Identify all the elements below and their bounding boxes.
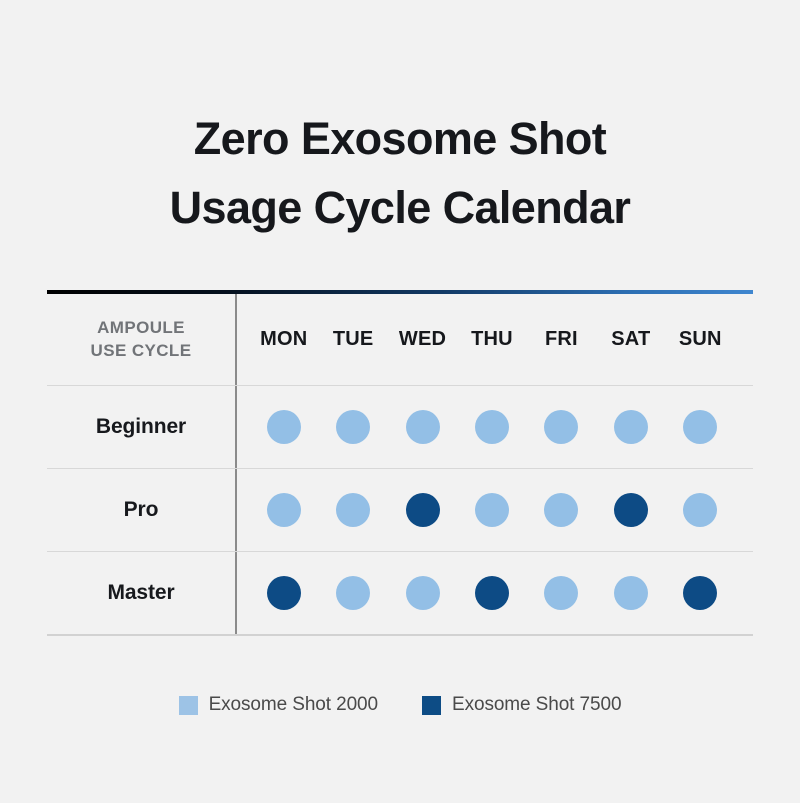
dose-dot-icon xyxy=(475,576,509,610)
page-title-line-2: Usage Cycle Calendar xyxy=(0,173,800,242)
dot-cell-beginner-fri[interactable] xyxy=(527,410,596,444)
dose-dot-icon xyxy=(406,493,440,527)
dot-cell-pro-sun[interactable] xyxy=(666,493,735,527)
day-header-fri: FRI xyxy=(527,328,596,351)
day-header-mon: MON xyxy=(249,328,318,351)
tier-label-cell-beginner: Beginner xyxy=(47,386,237,468)
corner-header-line-2: USE CYCLE xyxy=(91,341,192,360)
dose-dot-icon xyxy=(336,410,370,444)
table-row: Beginner xyxy=(47,386,753,468)
dose-dot-icon xyxy=(614,576,648,610)
dose-dot-icon xyxy=(683,493,717,527)
dose-dot-icon xyxy=(683,410,717,444)
dose-dot-icon xyxy=(406,410,440,444)
dot-cell-master-thu[interactable] xyxy=(457,576,526,610)
dose-dot-icon xyxy=(614,493,648,527)
tier-label-pro: Pro xyxy=(124,498,159,522)
dot-cells-pro xyxy=(237,469,753,551)
dose-dot-icon xyxy=(267,410,301,444)
dot-cell-pro-tue[interactable] xyxy=(318,493,387,527)
dose-dot-icon xyxy=(267,493,301,527)
dot-cell-master-sun[interactable] xyxy=(666,576,735,610)
dot-cell-beginner-wed[interactable] xyxy=(388,410,457,444)
tier-label-cell-pro: Pro xyxy=(47,469,237,551)
dose-dot-icon xyxy=(544,493,578,527)
legend-label-exosome-shot-2000: Exosome Shot 2000 xyxy=(209,694,378,716)
dose-dot-icon xyxy=(683,576,717,610)
dot-cell-pro-thu[interactable] xyxy=(457,493,526,527)
dot-cell-beginner-thu[interactable] xyxy=(457,410,526,444)
dot-cell-master-tue[interactable] xyxy=(318,576,387,610)
legend-item-exosome-shot-7500: Exosome Shot 7500 xyxy=(422,694,621,716)
dot-cells-master xyxy=(237,552,753,634)
legend-swatch-dark-icon xyxy=(422,696,441,715)
corner-header-cell: AMPOULE USE CYCLE xyxy=(47,294,237,385)
page-title: Zero Exosome Shot Usage Cycle Calendar xyxy=(0,104,800,243)
legend-swatch-light-icon xyxy=(179,696,198,715)
dose-dot-icon xyxy=(267,576,301,610)
day-header-sat: SAT xyxy=(596,328,665,351)
day-header-thu: THU xyxy=(457,328,526,351)
dot-cell-master-fri[interactable] xyxy=(527,576,596,610)
usage-cycle-calendar-page: Zero Exosome Shot Usage Cycle Calendar A… xyxy=(0,0,800,803)
dot-cells-beginner xyxy=(237,386,753,468)
dot-cell-master-mon[interactable] xyxy=(249,576,318,610)
dose-dot-icon xyxy=(475,410,509,444)
corner-header-text: AMPOULE USE CYCLE xyxy=(91,317,192,363)
day-header-cells: MON TUE WED THU FRI SAT SUN xyxy=(237,294,753,385)
tier-label-cell-master: Master xyxy=(47,552,237,634)
dot-cell-beginner-tue[interactable] xyxy=(318,410,387,444)
legend: Exosome Shot 2000 Exosome Shot 7500 xyxy=(0,694,800,716)
tier-label-master: Master xyxy=(107,581,174,605)
dot-cell-beginner-mon[interactable] xyxy=(249,410,318,444)
dot-cell-beginner-sun[interactable] xyxy=(666,410,735,444)
calendar-table: AMPOULE USE CYCLE MON TUE WED THU FRI SA… xyxy=(47,290,753,636)
dot-cell-pro-sat[interactable] xyxy=(596,493,665,527)
dose-dot-icon xyxy=(544,576,578,610)
dose-dot-icon xyxy=(475,493,509,527)
legend-item-exosome-shot-2000: Exosome Shot 2000 xyxy=(179,694,378,716)
dot-cell-beginner-sat[interactable] xyxy=(596,410,665,444)
page-title-line-1: Zero Exosome Shot xyxy=(0,104,800,173)
dose-dot-icon xyxy=(336,493,370,527)
corner-header-line-1: AMPOULE xyxy=(97,318,185,337)
table-row: Master xyxy=(47,552,753,634)
day-header-tue: TUE xyxy=(318,328,387,351)
dose-dot-icon xyxy=(544,410,578,444)
dot-cell-master-wed[interactable] xyxy=(388,576,457,610)
dot-cell-pro-wed[interactable] xyxy=(388,493,457,527)
day-header-wed: WED xyxy=(388,328,457,351)
dose-dot-icon xyxy=(406,576,440,610)
tier-label-beginner: Beginner xyxy=(96,415,186,439)
dot-cell-pro-mon[interactable] xyxy=(249,493,318,527)
dose-dot-icon xyxy=(336,576,370,610)
day-header-sun: SUN xyxy=(666,328,735,351)
dot-cell-pro-fri[interactable] xyxy=(527,493,596,527)
dose-dot-icon xyxy=(614,410,648,444)
table-bottom-rule xyxy=(47,634,753,636)
legend-label-exosome-shot-7500: Exosome Shot 7500 xyxy=(452,694,621,716)
table-row: Pro xyxy=(47,469,753,551)
dot-cell-master-sat[interactable] xyxy=(596,576,665,610)
table-header-row: AMPOULE USE CYCLE MON TUE WED THU FRI SA… xyxy=(47,294,753,385)
